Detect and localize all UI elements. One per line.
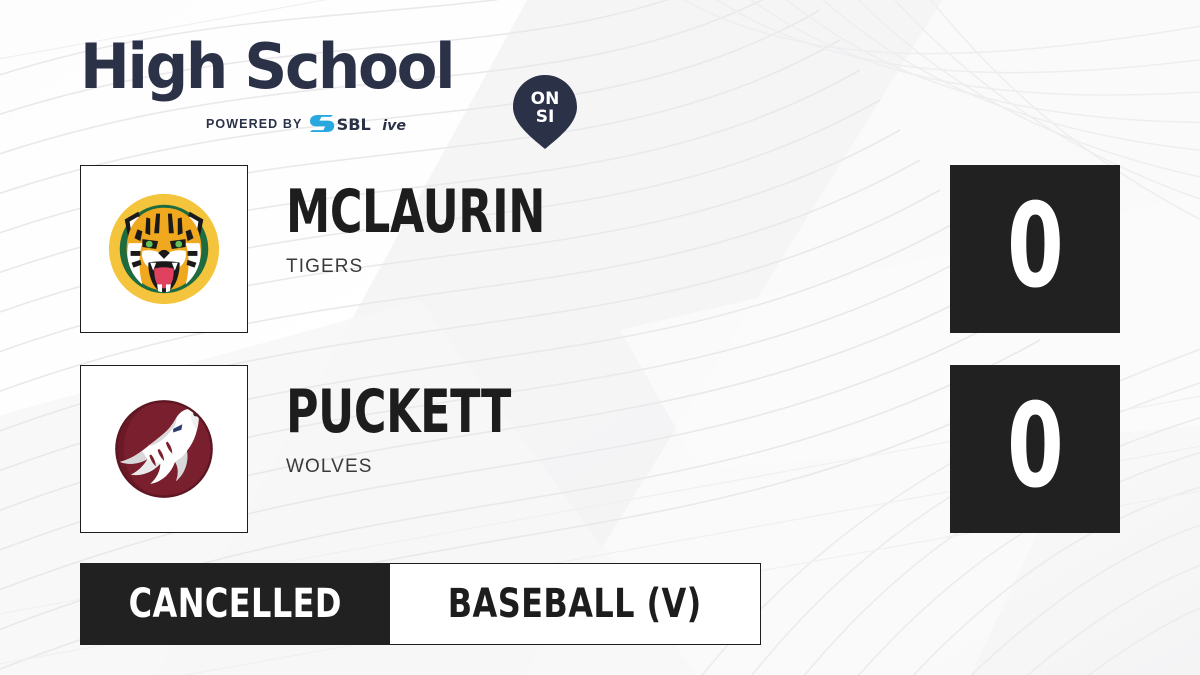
pin-label-si: SI [536, 107, 555, 127]
score-box-puckett: 0 [950, 365, 1120, 533]
game-status-label: CANCELLED [129, 584, 342, 624]
team-mascot-wolves: WOLVES [286, 456, 886, 478]
svg-text:ive: ive [383, 118, 407, 133]
sport-label: BASEBALL (V) [448, 584, 702, 624]
team-logo-box-mclaurin [80, 165, 248, 333]
team-row-away: PUCKETT WOLVES 0 [0, 365, 1200, 535]
team-name-puckett: PUCKETT [286, 383, 730, 442]
high-school-wordmark: High School [80, 36, 453, 98]
team-logo-box-puckett [80, 365, 248, 533]
score-value-puckett: 0 [1007, 389, 1064, 505]
on-si-pin-icon: ON SI [512, 74, 578, 150]
powered-by-label: POWERED BY [206, 117, 302, 131]
status-bar: CANCELLED BASEBALL (V) [80, 563, 761, 645]
scoreboard-graphic: High School ON SI POWERED BY SBL ive [0, 0, 1200, 675]
game-status-badge: CANCELLED [80, 563, 390, 645]
pin-label-on: ON [531, 89, 560, 109]
svg-text:SBL: SBL [337, 115, 371, 133]
howling-wolf-logo-icon [109, 394, 219, 504]
team-name-mclaurin: MCLAURIN [286, 183, 730, 242]
tiger-head-logo-icon [105, 190, 223, 308]
team-mascot-tigers: TIGERS [286, 256, 886, 278]
team-text-puckett: PUCKETT WOLVES [286, 383, 886, 478]
sport-badge: BASEBALL (V) [390, 563, 760, 645]
sblive-logo: SBL ive [310, 114, 432, 133]
score-box-mclaurin: 0 [950, 165, 1120, 333]
brand-header: High School ON SI POWERED BY SBL ive [80, 36, 520, 136]
team-row-home: MCLAURIN TIGERS 0 [0, 165, 1200, 335]
team-text-mclaurin: MCLAURIN TIGERS [286, 183, 886, 278]
powered-by-row: POWERED BY SBL ive [206, 114, 432, 133]
score-value-mclaurin: 0 [1007, 189, 1064, 305]
